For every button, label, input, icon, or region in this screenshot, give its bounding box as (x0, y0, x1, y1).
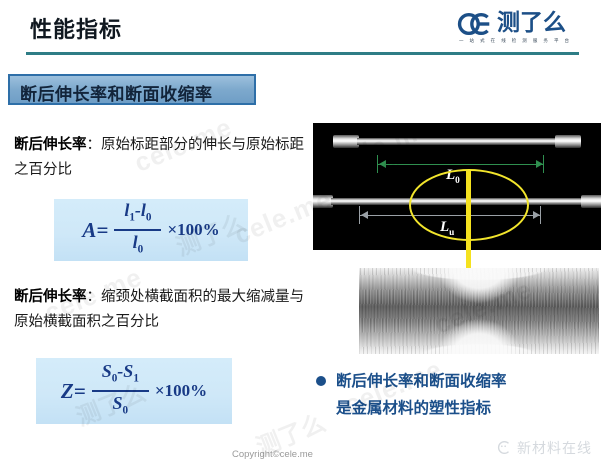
specimen-diagram: L0 Lu (313, 123, 601, 250)
reduction-of-area-formula: Z= S0-S1 S0 ×100% (36, 358, 232, 424)
lu-arrow-right (533, 211, 540, 219)
conclusion-text: 断后伸长率和断面收缩率 是金属材料的塑性指标 (336, 368, 601, 422)
footer-brand-watermark: 新材料在线 (495, 438, 599, 460)
formula-1-num-sub2: 0 (146, 212, 152, 224)
elongation-formula-box: A= l1-l0 l0 ×100% (54, 199, 248, 261)
formula-2-numerator: S0-S1 (92, 360, 149, 390)
photo-neck-region (359, 268, 599, 354)
footer-brand-name: 新材料在线 (517, 438, 592, 458)
conclusion-block: 断后伸长率和断面收缩率 是金属材料的塑性指标 (316, 368, 601, 422)
l0-dimension-line (377, 164, 544, 165)
formula-2-num-sub2: 1 (133, 373, 139, 385)
elongation-formula: A= l1-l0 l0 ×100% (54, 199, 248, 261)
formula-2-fraction: S0-S1 S0 (92, 360, 149, 421)
formula-1-denominator: l0 (123, 231, 154, 261)
formula-2-num-s1: -S (117, 361, 133, 381)
formula-2-den-s: S (113, 393, 123, 413)
formula-1-num-l0: -l (135, 200, 146, 220)
definition-1: 断后伸长率：原始标距部分的伸长与原始标距之百分比 (14, 133, 304, 183)
reduction-of-area-formula-box: Z= S0-S1 S0 ×100% (36, 358, 232, 424)
bullet-icon (316, 376, 326, 386)
conclusion-line-1: 断后伸长率和断面收缩率 (336, 368, 601, 395)
fractured-grip-left (313, 195, 333, 208)
section-title: 断后伸长率和断面收缩率 (20, 80, 213, 105)
formula-2-lhs: Z= (61, 379, 86, 404)
formula-1-rhs: ×100% (167, 220, 219, 240)
brand-name: 测了么 (497, 8, 566, 36)
fractured-grip-right (581, 195, 601, 208)
formula-1-lhs: A= (82, 218, 108, 243)
lu-arrow-left (361, 211, 368, 219)
brand-logo: 测了么 一 站 式 在 线 检 测 服 务 平 台 (457, 8, 597, 50)
definition-1-colon: ： (87, 137, 102, 153)
footer-brand-icon (495, 440, 512, 455)
definition-2-term: 断后伸长率 (14, 289, 87, 305)
formula-1-numerator: l1-l0 (114, 199, 161, 229)
specimen-grip-right (555, 135, 581, 148)
brand-subtitle: 一 站 式 在 线 检 测 服 务 平 台 (459, 38, 571, 44)
formula-1-fraction: l1-l0 l0 (114, 199, 161, 260)
l0-arrow-left (379, 160, 386, 168)
ce-monogram-icon (457, 11, 491, 37)
formula-1-den-sub: 0 (138, 244, 144, 256)
original-specimen (333, 135, 581, 149)
definition-2-colon: ： (87, 289, 102, 305)
callout-connector (466, 171, 471, 271)
definition-2: 断后伸长率：缩颈处横截面积的最大缩减量与原始横截面积之百分比 (14, 285, 304, 335)
formula-2-rhs: ×100% (155, 381, 207, 401)
specimen-grip-left (333, 135, 359, 148)
specimen-shaft (357, 138, 559, 145)
necking-photograph (359, 268, 599, 354)
formula-2-num-s0: S (102, 361, 112, 381)
slide-header: 性能指标 测了么 一 站 式 在 线 检 测 服 务 平 台 (0, 0, 605, 58)
l0-arrow-right (536, 160, 543, 168)
copyright-text: Copyright©cele.me (232, 449, 313, 460)
conclusion-line-2: 是金属材料的塑性指标 (336, 395, 601, 422)
section-title-box: 断后伸长率和断面收缩率 (8, 74, 256, 105)
slide: 性能指标 测了么 一 站 式 在 线 检 测 服 务 平 台 断后伸长率和断面收… (0, 0, 605, 466)
formula-2-denominator: S0 (103, 392, 139, 422)
header-divider (26, 52, 579, 55)
definition-1-term: 断后伸长率 (14, 137, 87, 153)
page-title: 性能指标 (30, 12, 122, 44)
formula-2-den-sub: 0 (123, 405, 129, 417)
